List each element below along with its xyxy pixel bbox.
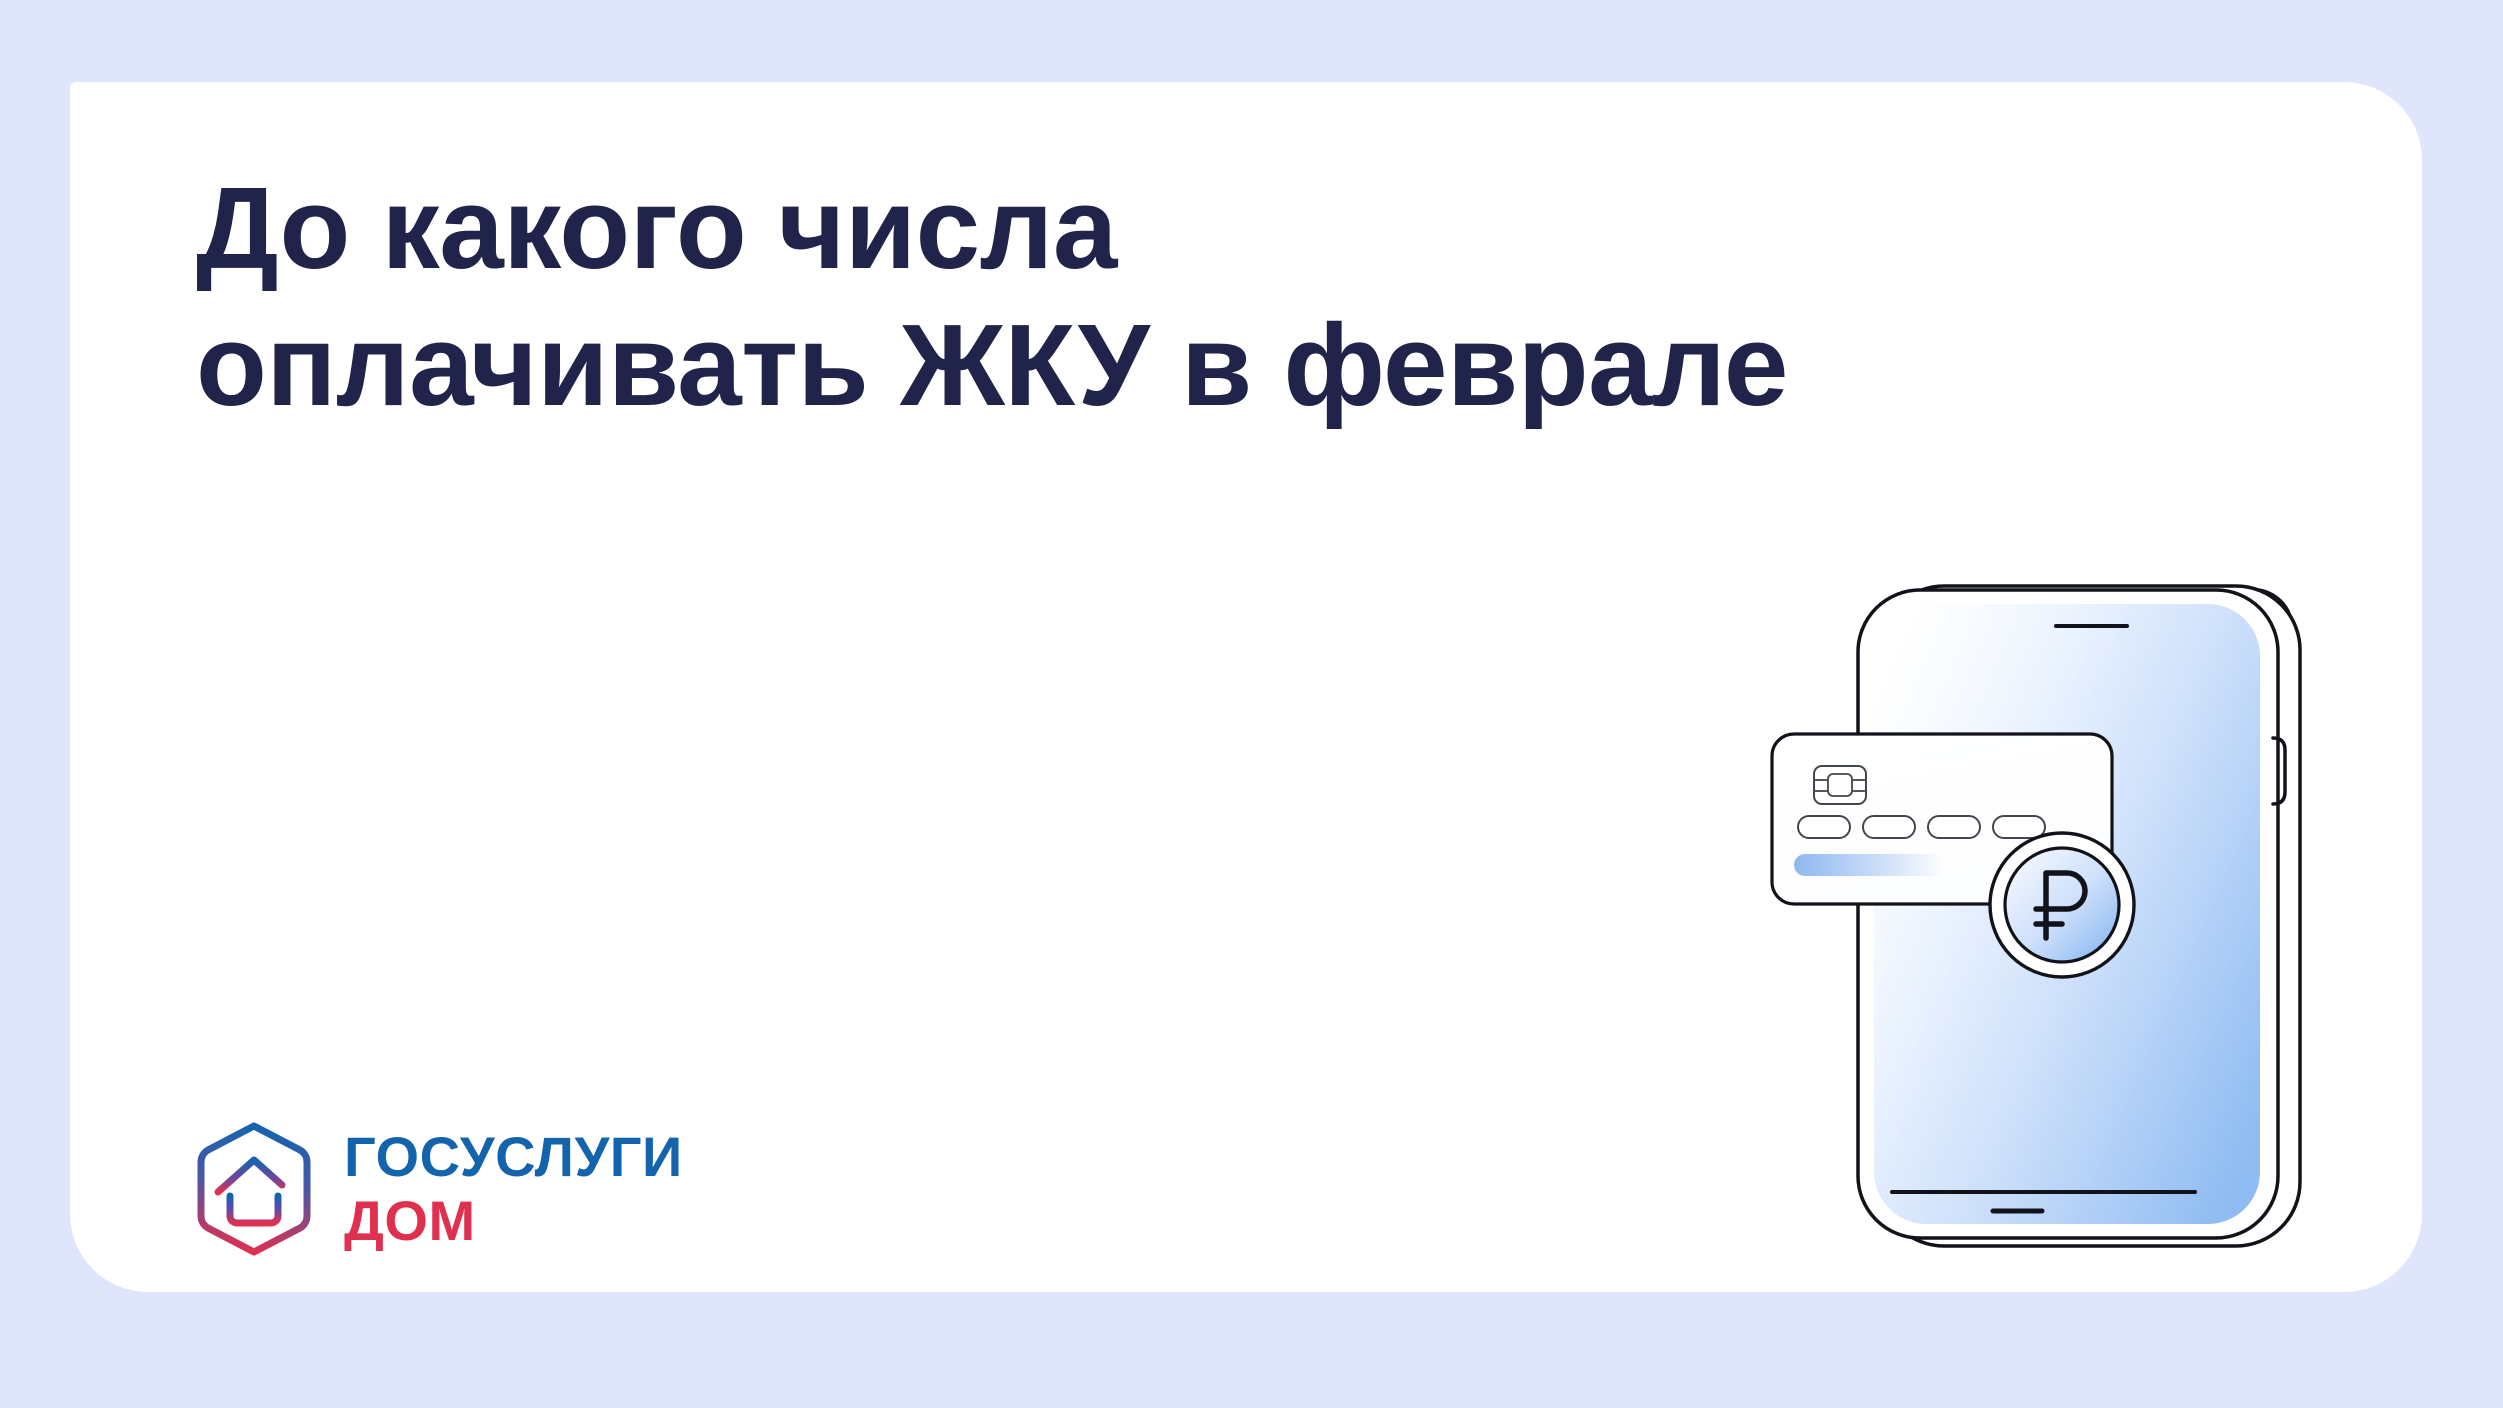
brand-wordmark: ГОСУСЛУГИ ДОМ — [344, 1129, 683, 1249]
brand-logo[interactable]: ГОСУСЛУГИ ДОМ — [190, 1118, 683, 1260]
ruble-coin — [1990, 833, 2134, 977]
card-chip-icon — [1814, 766, 1866, 804]
gosuslugi-dom-hexagon-house-icon — [190, 1118, 318, 1260]
poster-canvas: До какого числа оплачивать ЖКУ в феврале — [0, 0, 2503, 1408]
card-stripe — [1794, 854, 1946, 876]
brand-word-dom: ДОМ — [344, 1193, 683, 1249]
illustration-phone-card-coin — [1740, 560, 2340, 1300]
brand-word-gosuslugi: ГОСУСЛУГИ — [344, 1129, 683, 1185]
page-title: До какого числа оплачивать ЖКУ в феврале — [196, 160, 1796, 434]
